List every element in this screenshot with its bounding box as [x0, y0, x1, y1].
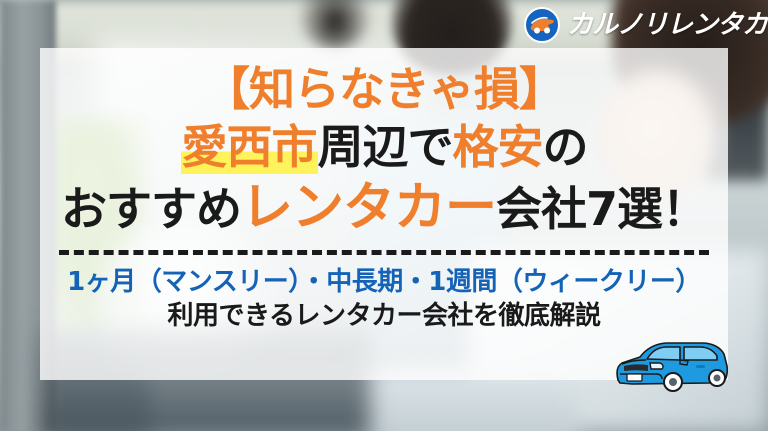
headline-line3-tail: 会社7選！ [496, 182, 707, 236]
subtitle-line-1: 1ヶ月（マンスリー）・中長期・1週間（ウィークリー） [67, 269, 701, 295]
subtitle-line-2: 利用できるレンタカー会社を徹底解説 [168, 303, 601, 329]
headline-line2-mid: 周辺で [318, 120, 453, 174]
headline-line2-tail: の [543, 120, 588, 174]
dashed-divider [59, 250, 709, 255]
headline-line3-accent: レンタカー [241, 178, 496, 238]
headline-city-highlight: 愛西市 [181, 120, 318, 174]
headline-line2-accent: 格安 [453, 120, 543, 174]
headline-line3-lead: おすすめ [61, 182, 241, 236]
headline-line-1: 【知らなきゃ損】 [204, 66, 564, 112]
headline-line-2: 愛西市周辺で格安の [181, 124, 588, 170]
brand-logo[interactable]: カルノリレンタカー [524, 6, 768, 44]
thumbnail-banner: カルノリレンタカー 【知らなきゃ損】 愛西市周辺で格安の おすすめレンタカー会社… [0, 0, 768, 431]
brand-name: カルノリレンタカー [567, 12, 768, 38]
headline-line-3: おすすめレンタカー会社7選！ [61, 182, 707, 234]
blue-car-icon [610, 330, 730, 396]
car-circle-logo-icon [524, 7, 560, 43]
